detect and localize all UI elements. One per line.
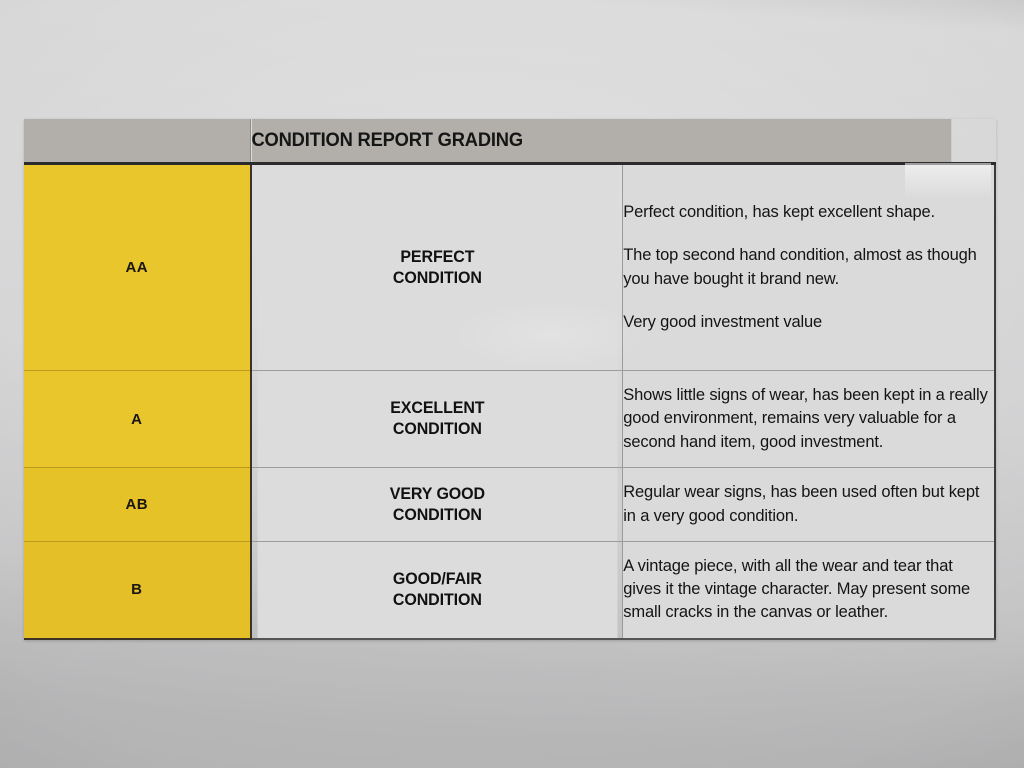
description-paragraph: Very good investment value [623,311,994,334]
description-paragraph: Shows little signs of wear, has been kep… [623,384,994,453]
condition-name-line1: VERY GOOD [389,485,484,503]
condition-name-a: EXCELLENT CONDITION [256,371,617,468]
description-paragraph: Regular wear signs, has been used often … [623,481,994,527]
condition-name-ab: VERY GOOD CONDITION [256,468,617,542]
table-row: B GOOD/FAIR CONDITION A vintage piece, w… [24,542,995,639]
table-row: AB VERY GOOD CONDITION Regular wear sign… [24,468,995,542]
header-blank-cell [24,119,251,164]
description-paragraph: Perfect condition, has kept excellent sh… [623,201,994,224]
condition-name-b: GOOD/FAIR CONDITION [256,542,617,639]
condition-name-line1: PERFECT [400,248,474,266]
photographed-document: CONDITION REPORT GRADING AA PERFECT COND… [0,0,1024,768]
grade-code-b: B [24,542,251,639]
grade-code-a: A [24,371,251,468]
condition-name-line2: CONDITION [392,269,481,287]
condition-name-line1: GOOD/FAIR [392,570,481,588]
grade-code-aa: AA [24,164,251,371]
table-row: AA PERFECT CONDITION Perfect condition, … [24,164,995,371]
condition-name-line2: CONDITION [392,506,481,524]
table-header-row: CONDITION REPORT GRADING [24,119,995,164]
condition-name-line1: EXCELLENT [390,399,484,417]
page-title: CONDITION REPORT GRADING [251,119,951,164]
condition-name-line2: CONDITION [392,591,481,609]
description-paragraph: The top second hand condition, almost as… [623,244,994,290]
condition-report-grading-table: CONDITION REPORT GRADING AA PERFECT COND… [24,119,996,640]
condition-description-ab: Regular wear signs, has been used often … [623,468,995,542]
table-row: A EXCELLENT CONDITION Shows little signs… [24,371,995,468]
condition-name-line2: CONDITION [392,420,481,438]
condition-description-a: Shows little signs of wear, has been kep… [623,371,995,468]
condition-name-aa: PERFECT CONDITION [256,164,617,371]
condition-description-aa: Perfect condition, has kept excellent sh… [623,164,995,371]
condition-description-b: A vintage piece, with all the wear and t… [623,542,995,639]
description-paragraph: A vintage piece, with all the wear and t… [623,555,994,624]
grade-code-ab: AB [24,468,251,542]
